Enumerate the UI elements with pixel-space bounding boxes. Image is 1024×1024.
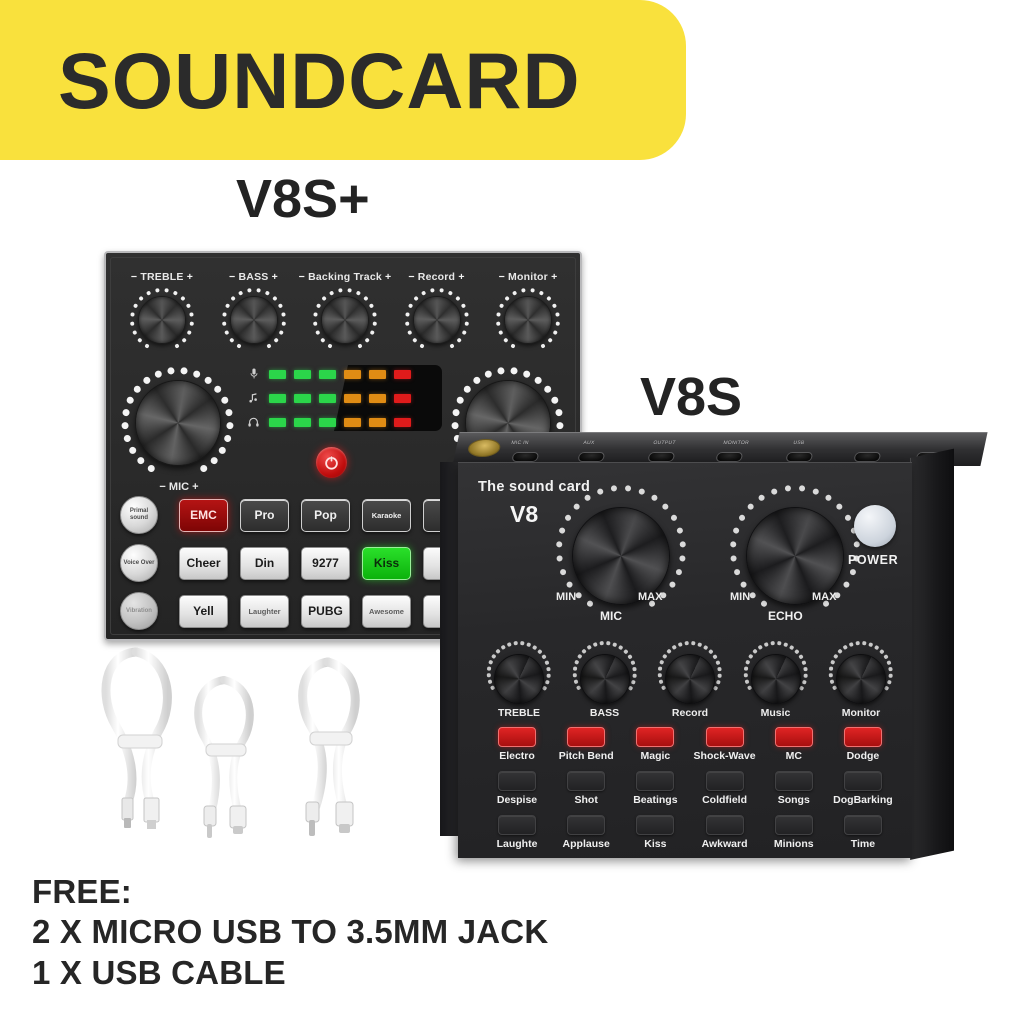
pad-surface[interactable] xyxy=(775,771,813,791)
led-row-mic xyxy=(246,367,442,382)
pad-label: Dodge xyxy=(847,750,880,762)
pad-label: Songs xyxy=(778,794,810,806)
pad-surface[interactable] xyxy=(636,771,674,791)
product-promo-image: SOUNDCARD V8S+ V8S − TREBLE + − BASS + xyxy=(0,0,1024,1024)
v8s-pad-grid: Electro Pitch Bend Magic Shock-Wave xyxy=(484,727,896,859)
v8s-pad-laughte[interactable]: Laughte xyxy=(484,815,550,859)
antenna-nut-icon xyxy=(466,439,502,457)
pad-surface[interactable] xyxy=(706,815,744,835)
v8s-pad-beatings[interactable]: Beatings xyxy=(622,771,688,815)
pad-label: Shot xyxy=(575,794,598,806)
pad-surface[interactable] xyxy=(498,727,536,747)
model-label-v8s-plus: V8S+ xyxy=(236,168,370,230)
banner-title: SOUNDCARD xyxy=(58,41,581,120)
led-segment xyxy=(344,418,361,427)
port-label-mic-in: MIC IN xyxy=(511,440,530,446)
pad-surface[interactable] xyxy=(844,815,882,835)
mic-max-label: MAX xyxy=(638,591,662,603)
led-segment xyxy=(394,418,411,427)
micro-usb-to-3.5mm-cable-2 xyxy=(303,662,356,836)
knob-cap[interactable] xyxy=(138,296,186,344)
port-label-aux: AUX xyxy=(583,440,595,446)
pad-label: Coldfield xyxy=(702,794,747,806)
pad-label: MC xyxy=(786,750,802,762)
v8s-pad-row-3: Laughte Applause Kiss Awkward xyxy=(484,815,896,859)
knob-treble[interactable]: − TREBLE + xyxy=(120,271,204,352)
led-segment xyxy=(394,370,411,379)
pad-label: Applause xyxy=(563,838,610,850)
v8s-top-port-strip: MIC IN AUX OUTPUT MONITOR USB xyxy=(452,432,987,466)
v8s-pad-shock-wave[interactable]: Shock-Wave xyxy=(692,727,758,771)
power-button[interactable] xyxy=(316,447,347,478)
led-level-meter xyxy=(246,365,442,431)
knob-record[interactable]: − Record + xyxy=(395,271,479,352)
pad-pop[interactable]: Pop xyxy=(301,499,350,532)
free-accessories-block: FREE: 2 X MICRO USB TO 3.5MM JACK 1 X US… xyxy=(32,872,548,993)
pad-label: Pitch Bend xyxy=(559,750,614,762)
port-label-output: OUTPUT xyxy=(653,440,677,446)
pad-label: Laughte xyxy=(497,838,538,850)
headphones-icon xyxy=(246,417,261,429)
led-segment xyxy=(369,394,386,403)
v8s-plus-top-knob-row: − TREBLE + − BASS + − Backing Track + xyxy=(120,271,570,352)
port-jack-output[interactable] xyxy=(647,452,675,462)
v8s-device: MIC IN AUX OUTPUT MONITOR USB The sound … xyxy=(440,432,1010,860)
v8s-knob-bass[interactable]: BASS xyxy=(570,641,640,727)
v8s-front-panel: The sound card V8 MIN MAX MIC MIN MAX EC… xyxy=(458,462,912,858)
mic-min-label: MIN xyxy=(556,591,576,603)
port-jack-mic-in[interactable] xyxy=(511,452,539,462)
pad-label: Magic xyxy=(640,750,670,762)
knob-treble-label: − TREBLE + xyxy=(131,271,193,283)
pad-surface[interactable] xyxy=(844,727,882,747)
knob-cap[interactable] xyxy=(494,654,544,704)
pad-label: Beatings xyxy=(633,794,677,806)
v8s-knob-treble-label: TREBLE xyxy=(484,707,554,719)
led-segment xyxy=(269,418,286,427)
pad-surface[interactable] xyxy=(567,815,605,835)
mic-volume-knob[interactable] xyxy=(122,367,234,479)
v8s-knob-music-label: Music xyxy=(741,707,811,719)
pad-label: Shock-Wave xyxy=(694,750,756,762)
model-label-v8s: V8S xyxy=(640,366,742,428)
v8s-pad-kiss[interactable]: Kiss xyxy=(622,815,688,859)
v8s-pad-minions[interactable]: Minions xyxy=(761,815,827,859)
knob-bass[interactable]: − BASS + xyxy=(212,271,296,352)
pad-surface[interactable] xyxy=(775,727,813,747)
v8s-pad-row-red: Electro Pitch Bend Magic Shock-Wave xyxy=(484,727,896,771)
v8s-pad-dodge[interactable]: Dodge xyxy=(830,727,896,771)
v8s-pad-pitch-bend[interactable]: Pitch Bend xyxy=(553,727,619,771)
pad-karaoke[interactable]: Karaoke xyxy=(362,499,411,532)
v8s-small-knob-row: TREBLE BASS Record Music Monitor xyxy=(484,641,896,727)
v8s-left-side-panel xyxy=(440,462,460,836)
pad-surface[interactable] xyxy=(706,727,744,747)
pad-label: Time xyxy=(851,838,875,850)
knob-cap[interactable] xyxy=(836,654,886,704)
pad-primal-sound[interactable]: Primal sound xyxy=(120,496,158,534)
knob-backing-track[interactable]: − Backing Track + xyxy=(303,271,387,352)
pad-label: Electro xyxy=(499,750,535,762)
knob-cap[interactable] xyxy=(135,380,221,466)
led-segment xyxy=(294,370,311,379)
v8s-power-label: POWER xyxy=(848,553,898,567)
accessory-cables xyxy=(96,640,386,865)
micro-usb-to-3.5mm-cable-1 xyxy=(198,680,250,838)
free-line-3: 1 X USB CABLE xyxy=(32,953,548,993)
pad-surface[interactable] xyxy=(636,727,674,747)
v8s-pad-electro[interactable]: Electro xyxy=(484,727,550,771)
led-segment xyxy=(294,418,311,427)
led-segment xyxy=(319,394,336,403)
power-icon xyxy=(323,454,340,471)
echo-knob-name: ECHO xyxy=(768,609,803,623)
led-segment xyxy=(344,370,361,379)
pad-surface[interactable] xyxy=(567,771,605,791)
pad-pubg[interactable]: PUBG xyxy=(301,595,350,628)
pad-label: Minions xyxy=(774,838,814,850)
v8s-knob-music[interactable]: Music xyxy=(741,641,811,727)
led-segment xyxy=(294,394,311,403)
v8s-pad-coldfield[interactable]: Coldfield xyxy=(692,771,758,815)
v8s-knob-monitor[interactable]: Monitor xyxy=(826,641,896,727)
v8s-pad-songs[interactable]: Songs xyxy=(761,771,827,815)
led-segment xyxy=(269,394,286,403)
led-segment xyxy=(369,370,386,379)
port-jack-aux[interactable] xyxy=(577,452,605,462)
led-segment xyxy=(344,394,361,403)
port-label-usb: USB xyxy=(793,440,805,446)
knob-monitor[interactable]: − Monitor + xyxy=(486,271,570,352)
pad-din[interactable]: Din xyxy=(240,547,289,580)
port-jack-dc[interactable] xyxy=(853,452,881,462)
pad-pro[interactable]: Pro xyxy=(240,499,289,532)
knob-cap[interactable] xyxy=(751,654,801,704)
knob-cap[interactable] xyxy=(665,654,715,704)
v8s-knob-treble[interactable]: TREBLE xyxy=(484,641,554,727)
pad-label: Despise xyxy=(497,794,537,806)
pad-laughter[interactable]: Laughter xyxy=(240,595,289,628)
soundcard-banner: SOUNDCARD xyxy=(0,0,686,160)
v8s-pad-awkward[interactable]: Awkward xyxy=(692,815,758,859)
led-segment xyxy=(394,394,411,403)
v8s-pad-time[interactable]: Time xyxy=(830,815,896,859)
pad-9277[interactable]: 9277 xyxy=(301,547,350,580)
port-jack-monitor[interactable] xyxy=(715,452,743,462)
v8s-pad-shot[interactable]: Shot xyxy=(553,771,619,815)
v8s-knob-bass-label: BASS xyxy=(570,707,640,719)
pad-surface[interactable] xyxy=(636,815,674,835)
v8s-pad-row-2: Despise Shot Beatings Coldfield xyxy=(484,771,896,815)
knob-cap[interactable] xyxy=(504,296,552,344)
v8s-knob-monitor-label: Monitor xyxy=(826,707,896,719)
pad-surface[interactable] xyxy=(498,771,536,791)
v8s-pad-dogbarking[interactable]: DogBarking xyxy=(830,771,896,815)
led-segment xyxy=(369,418,386,427)
v8s-model-caption: V8 xyxy=(510,501,538,528)
led-segment xyxy=(319,370,336,379)
knob-record-label: − Record + xyxy=(408,271,464,283)
pad-surface[interactable] xyxy=(775,815,813,835)
pad-label: DogBarking xyxy=(833,794,893,806)
pad-cheer[interactable]: Cheer xyxy=(179,547,228,580)
knob-monitor-label: − Monitor + xyxy=(499,271,558,283)
pad-emc[interactable]: EMC xyxy=(179,499,228,532)
echo-max-label: MAX xyxy=(812,591,836,603)
pad-kiss[interactable]: Kiss xyxy=(362,547,411,580)
v8s-pad-magic[interactable]: Magic xyxy=(622,727,688,771)
knob-cap[interactable] xyxy=(413,296,461,344)
echo-min-label: MIN xyxy=(730,591,750,603)
mic-knob-name: MIC xyxy=(600,609,622,623)
led-segment xyxy=(319,418,336,427)
v8s-pad-mc[interactable]: MC xyxy=(761,727,827,771)
pad-label: Awkward xyxy=(702,838,748,850)
knob-bass-label: − BASS + xyxy=(229,271,278,283)
v8s-pad-applause[interactable]: Applause xyxy=(553,815,619,859)
pad-vibration[interactable]: Vibration xyxy=(120,592,158,630)
usb-cable-1 xyxy=(106,652,167,829)
v8s-knob-record[interactable]: Record xyxy=(655,641,725,727)
free-line-1: FREE: xyxy=(32,872,548,912)
led-row-headphones xyxy=(246,415,442,430)
pad-awesome[interactable]: Awesome xyxy=(362,595,411,628)
v8s-pad-despise[interactable]: Despise xyxy=(484,771,550,815)
pad-label: Kiss xyxy=(644,838,666,850)
microphone-icon xyxy=(246,368,261,381)
free-line-2: 2 X MICRO USB TO 3.5MM JACK xyxy=(32,912,548,952)
port-label-monitor: MONITOR xyxy=(723,440,750,446)
pad-surface[interactable] xyxy=(567,727,605,747)
pad-yell[interactable]: Yell xyxy=(179,595,228,628)
led-row-music xyxy=(246,391,442,406)
pad-surface[interactable] xyxy=(706,771,744,791)
knob-cap[interactable] xyxy=(321,296,369,344)
port-jack-usb[interactable] xyxy=(785,452,813,462)
pad-surface[interactable] xyxy=(844,771,882,791)
v8s-power-button[interactable] xyxy=(854,505,896,547)
pad-surface[interactable] xyxy=(498,815,536,835)
music-note-icon xyxy=(246,393,261,405)
v8s-knob-record-label: Record xyxy=(655,707,725,719)
knob-cap[interactable] xyxy=(230,296,278,344)
pad-voice-over[interactable]: Voice Over xyxy=(120,544,158,582)
v8s-right-side-panel xyxy=(910,449,954,860)
knob-cap[interactable] xyxy=(580,654,630,704)
knob-backing-track-label: − Backing Track + xyxy=(299,271,392,283)
led-segment xyxy=(269,370,286,379)
